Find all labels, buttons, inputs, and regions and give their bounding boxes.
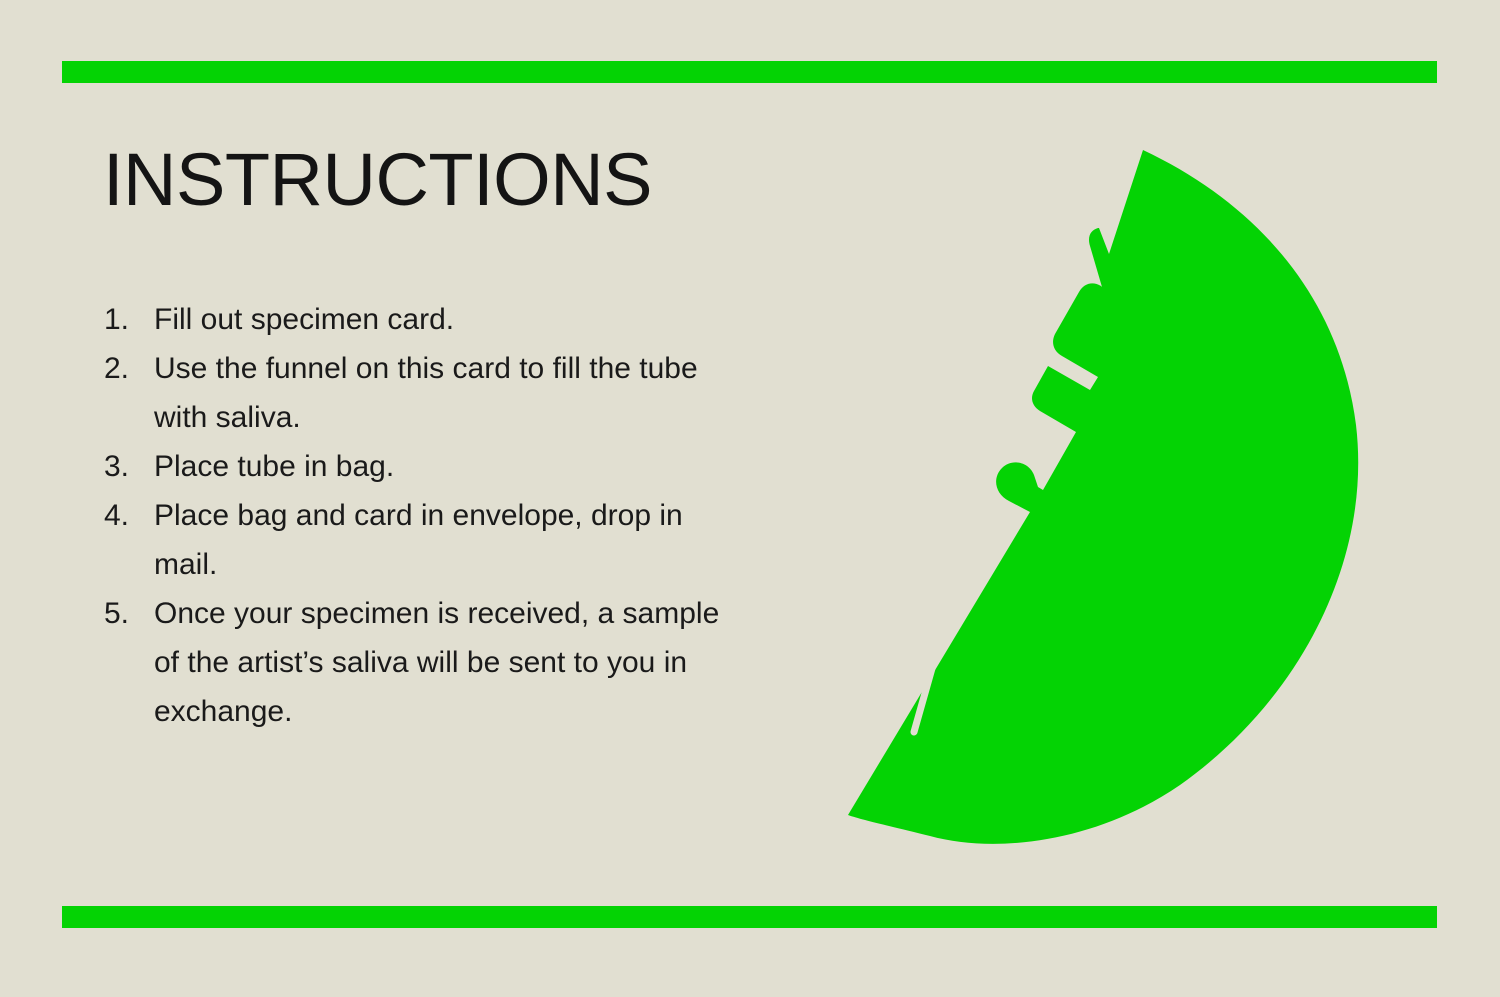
funnel-shape-group	[848, 150, 1358, 844]
list-item: 1. Fill out specimen card.	[104, 295, 744, 344]
instruction-card: INSTRUCTIONS 1. Fill out specimen card. …	[0, 0, 1500, 997]
list-item-number: 4.	[104, 491, 154, 540]
list-item: 4. Place bag and card in envelope, drop …	[104, 491, 744, 589]
list-item-label: Place tube in bag.	[154, 442, 744, 491]
list-item-label: Place bag and card in envelope, drop in …	[154, 491, 744, 589]
list-item-number: 1.	[104, 295, 154, 344]
list-item: 2. Use the funnel on this card to fill t…	[104, 344, 744, 442]
list-item: 5. Once your specimen is received, a sam…	[104, 589, 744, 736]
funnel-slot-line	[914, 619, 946, 732]
page-title: INSTRUCTIONS	[103, 143, 652, 217]
top-accent-bar	[62, 61, 1437, 83]
list-item-label: Once your specimen is received, a sample…	[154, 589, 744, 736]
list-item-number: 5.	[104, 589, 154, 638]
list-item-label: Fill out specimen card.	[154, 295, 744, 344]
list-item: 3. Place tube in bag.	[104, 442, 744, 491]
funnel-body-path	[848, 150, 1358, 844]
list-item-number: 3.	[104, 442, 154, 491]
list-item-number: 2.	[104, 344, 154, 393]
list-item-label: Use the funnel on this card to fill the …	[154, 344, 744, 442]
bottom-accent-bar	[62, 906, 1437, 928]
instructions-list: 1. Fill out specimen card. 2. Use the fu…	[104, 295, 744, 736]
